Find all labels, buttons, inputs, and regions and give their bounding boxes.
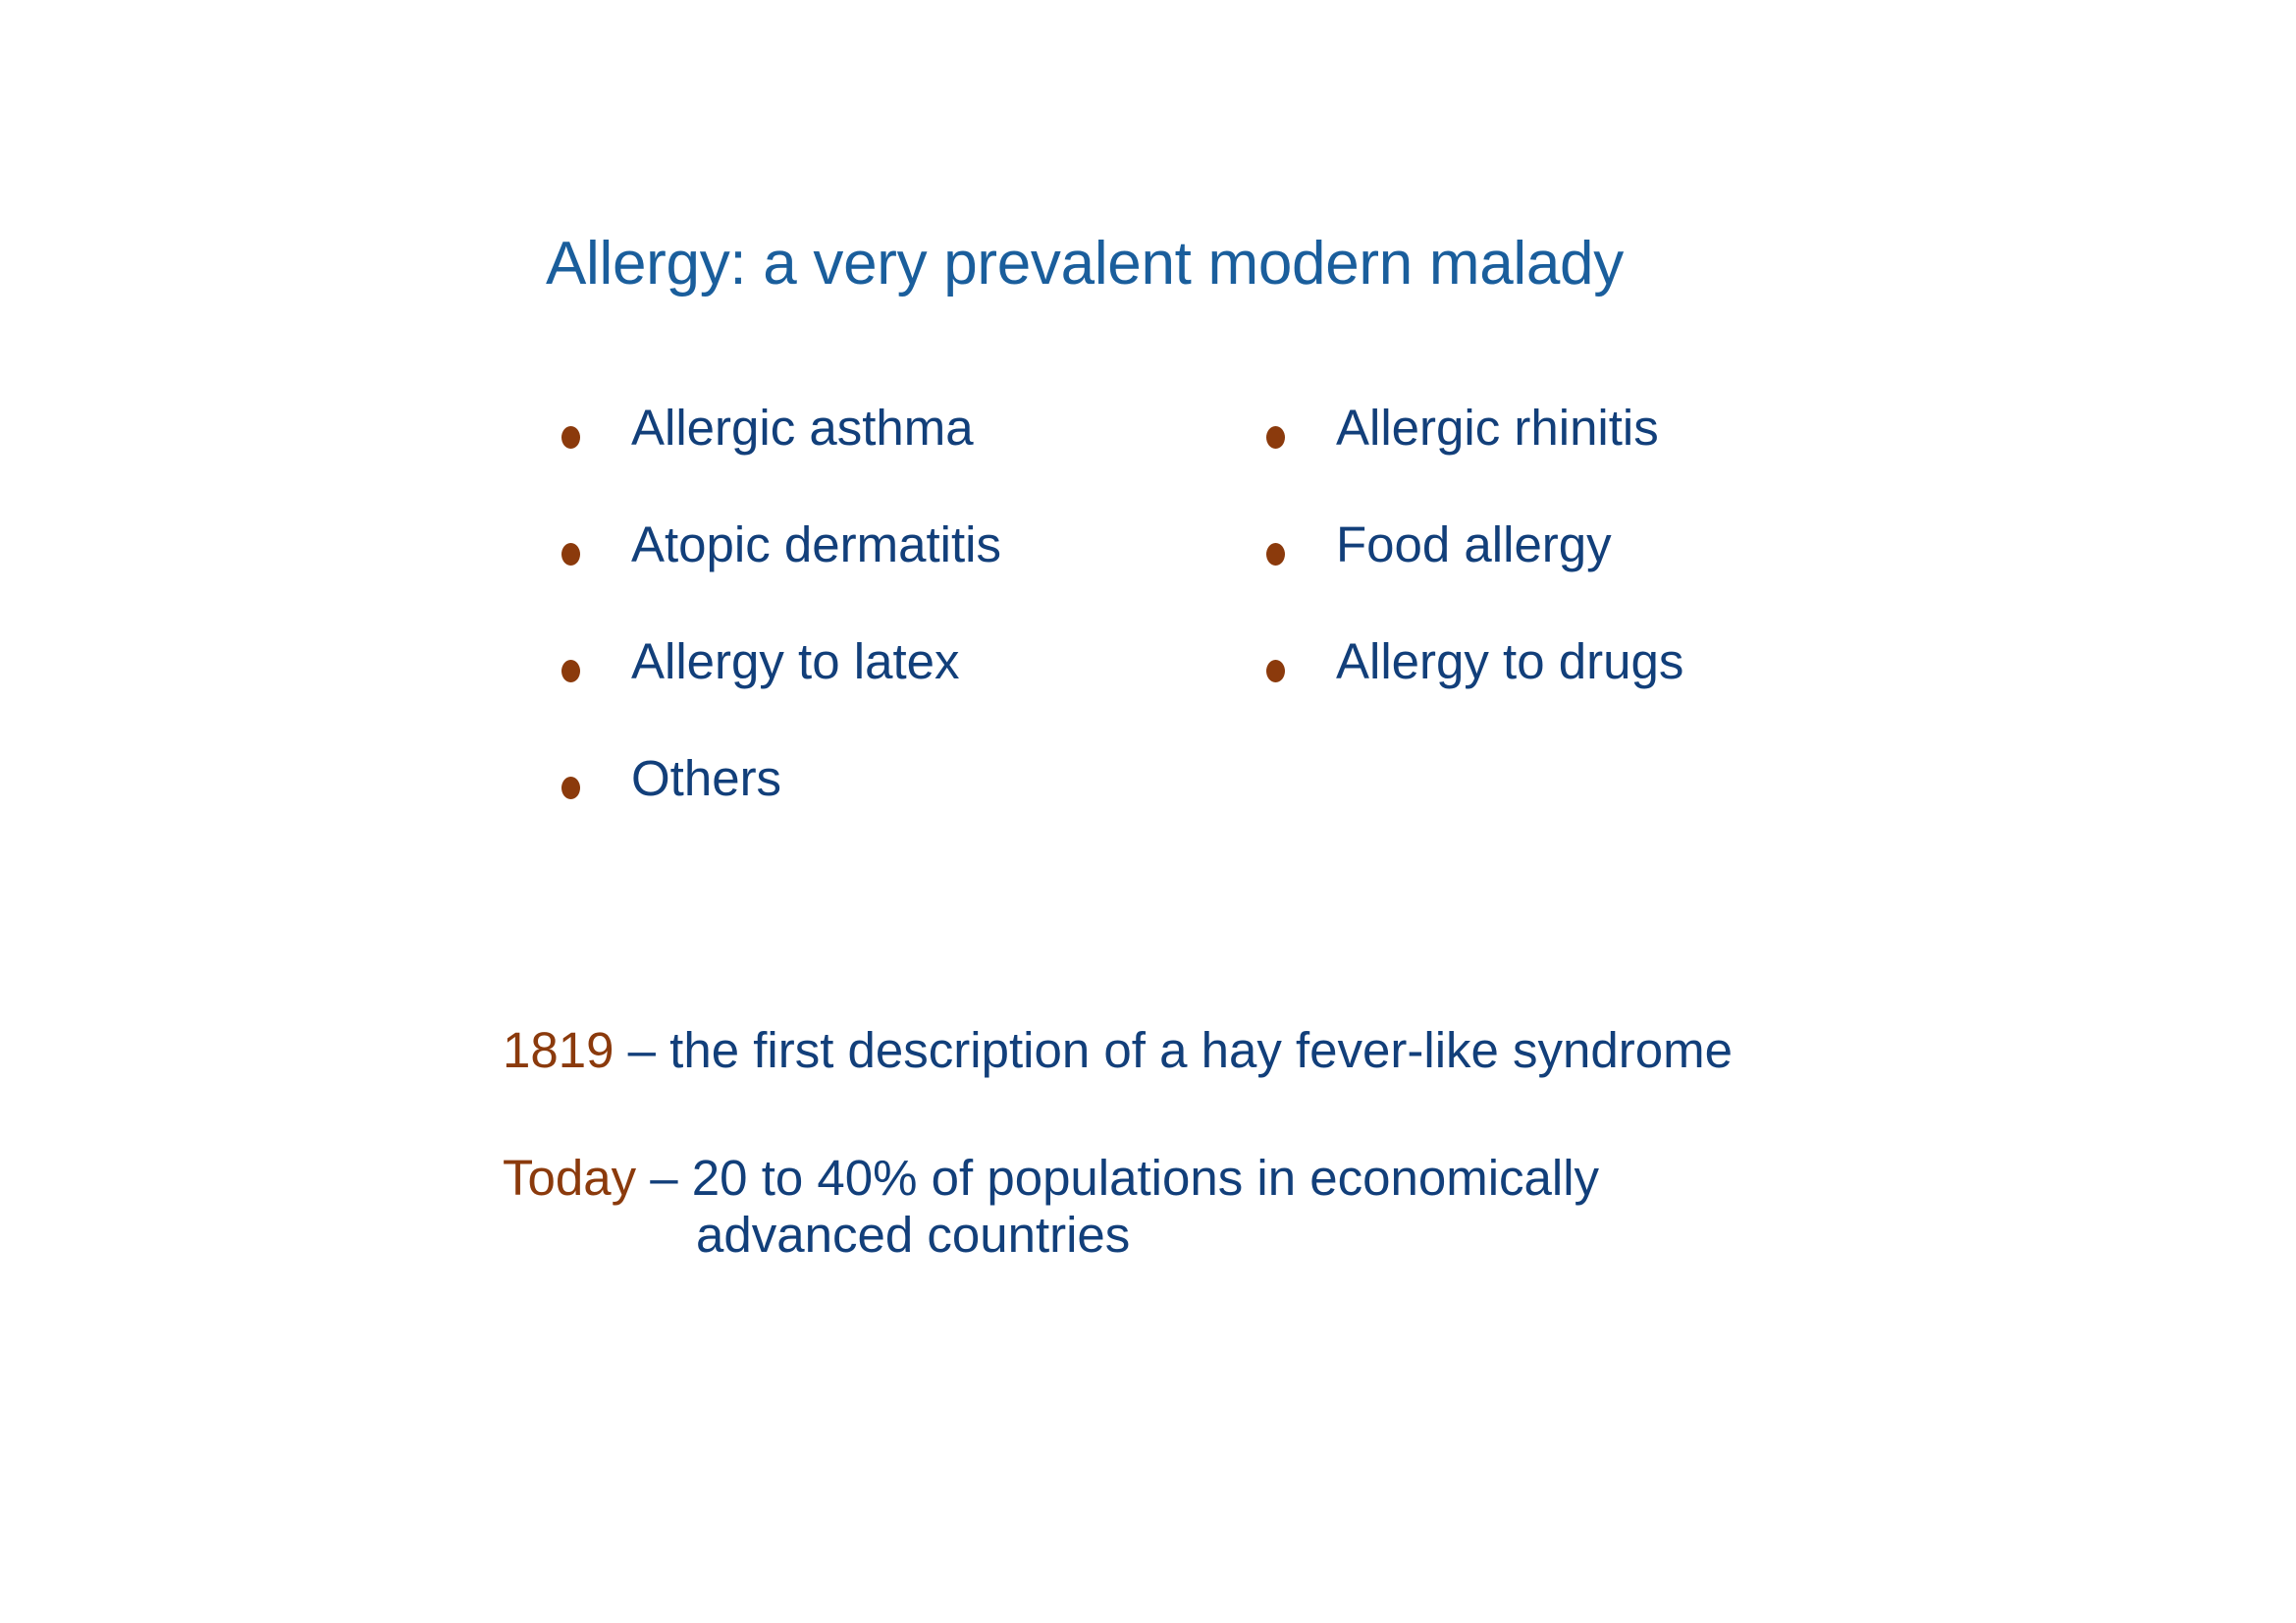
note-body-continuation: advanced countries xyxy=(696,1207,2171,1264)
note-lead-today: Today xyxy=(503,1150,636,1206)
list-item: Allergic rhinitis xyxy=(1266,403,1973,519)
note-lead-year: 1819 xyxy=(503,1022,614,1078)
list-item-label: Allergic rhinitis xyxy=(1336,403,1973,453)
bullet-dot-icon xyxy=(1266,426,1285,449)
list-item: Allergic asthma xyxy=(561,403,1249,519)
list-item-label: Atopic dermatitis xyxy=(631,519,1249,569)
bullet-column-right: Allergic rhinitis Food allergy Allergy t… xyxy=(1266,403,1973,753)
bullet-dot-icon xyxy=(561,426,580,449)
bullet-dot-icon xyxy=(1266,543,1285,566)
note-body: – the first description of a hay fever-l… xyxy=(614,1022,1733,1078)
list-item-label: Allergic asthma xyxy=(631,403,1249,453)
bullet-column-left: Allergic asthma Atopic dermatitis Allerg… xyxy=(561,403,1249,870)
bullet-dot-icon xyxy=(561,777,580,799)
bullet-dot-icon xyxy=(561,543,580,566)
note-body: – 20 to 40% of populations in economical… xyxy=(636,1150,1599,1206)
slide-canvas: Allergy: a very prevalent modern malady … xyxy=(0,0,2296,1623)
list-item-label: Others xyxy=(631,753,1249,803)
list-item: Allergy to drugs xyxy=(1266,636,1973,753)
list-item: Atopic dermatitis xyxy=(561,519,1249,636)
list-item-label: Food allergy xyxy=(1336,519,1973,569)
page-title: Allergy: a very prevalent modern malady xyxy=(546,232,2018,296)
list-item-label: Allergy to drugs xyxy=(1336,636,1973,686)
note-historical: 1819 – the first description of a hay fe… xyxy=(503,1022,2171,1079)
list-item: Food allergy xyxy=(1266,519,1973,636)
list-item: Others xyxy=(561,753,1249,870)
bullet-dot-icon xyxy=(1266,660,1285,682)
list-item-label: Allergy to latex xyxy=(631,636,1249,686)
bullet-dot-icon xyxy=(561,660,580,682)
note-current: Today – 20 to 40% of populations in econ… xyxy=(503,1150,2171,1264)
list-item: Allergy to latex xyxy=(561,636,1249,753)
